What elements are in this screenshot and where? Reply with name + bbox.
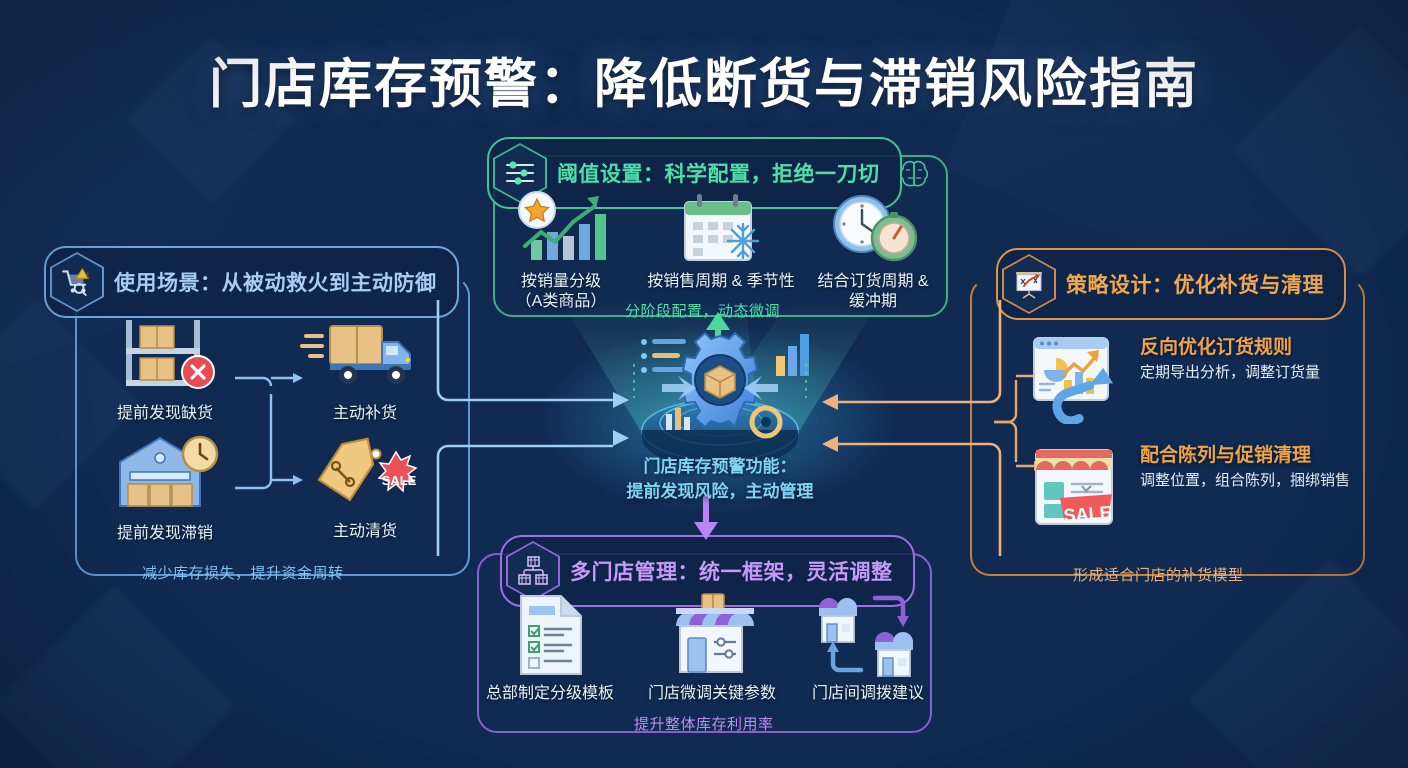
- arrow-down-purple: [694, 498, 718, 540]
- hub-caption-line2: 提前发现风险，主动管理: [565, 480, 875, 505]
- hub-caption: 门店库存预警功能： 提前发现风险，主动管理: [565, 455, 875, 504]
- center-hub-icon[interactable]: [600, 318, 840, 478]
- hub-caption-line1: 门店库存预警功能：: [565, 455, 875, 480]
- infographic-canvas: 门店库存预警：降低断货与滞销风险指南: [0, 0, 1408, 768]
